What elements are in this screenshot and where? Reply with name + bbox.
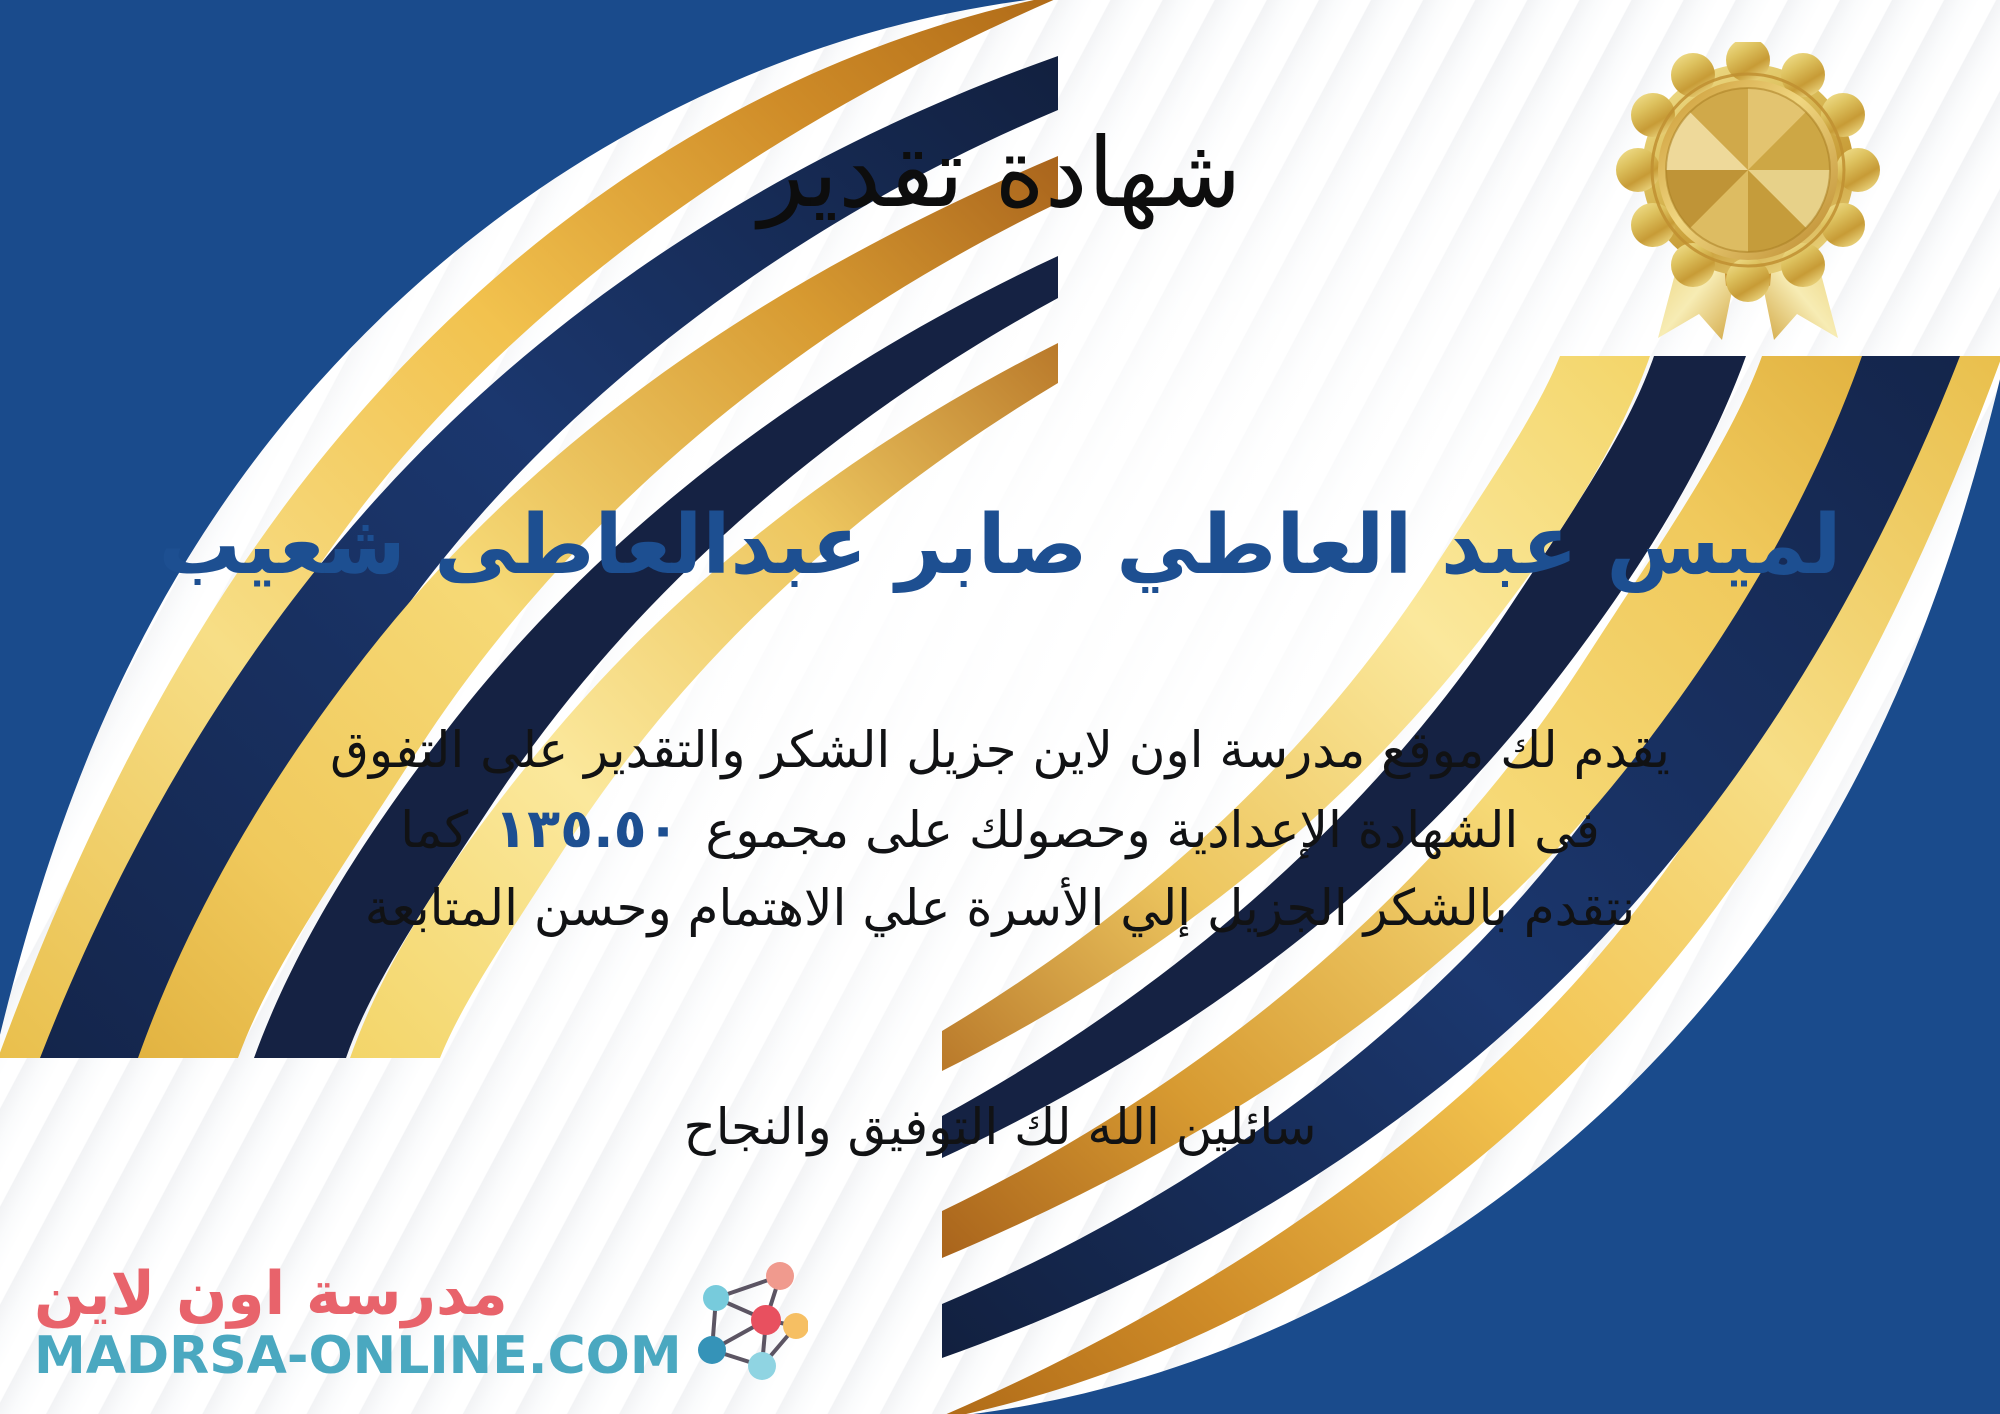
site-logo[interactable]: مدرسة اون لاين MADRSA-ONLINE.COM bbox=[34, 1258, 808, 1388]
body-line-2-suffix: كما bbox=[400, 801, 468, 859]
body-line-3: نتقدم بالشكر الجزيل إلي الأسرة علي الاهت… bbox=[120, 870, 1880, 946]
body-line-1: يقدم لك موقع مدرسة اون لاين جزيل الشكر و… bbox=[120, 712, 1880, 788]
body-text: يقدم لك موقع مدرسة اون لاين جزيل الشكر و… bbox=[120, 712, 1880, 946]
logo-text: مدرسة اون لاين MADRSA-ONLINE.COM bbox=[34, 1264, 682, 1382]
network-nodes-icon bbox=[688, 1258, 808, 1388]
recipient-name: لميس عبد العاطي صابر عبدالعاطى شعيب bbox=[60, 498, 1940, 595]
certificate-page: شهادة تقدير لميس عبد العاطي صابر عبدالعا… bbox=[0, 0, 2000, 1414]
certificate-content: شهادة تقدير لميس عبد العاطي صابر عبدالعا… bbox=[0, 0, 2000, 1414]
body-line-2: فى الشهادة الإعدادية وحصولك على مجموع١٣٥… bbox=[120, 788, 1880, 870]
logo-domain: MADRSA-ONLINE.COM bbox=[34, 1330, 682, 1382]
logo-arabic-name: مدرسة اون لاين bbox=[34, 1264, 508, 1324]
body-line-2-prefix: فى الشهادة الإعدادية وحصولك على مجموع bbox=[706, 801, 1600, 859]
closing-line: سائلين الله لك التوفيق والنجاح bbox=[0, 1090, 2000, 1165]
page-title: شهادة تقدير bbox=[0, 118, 2000, 228]
score-value: ١٣٥.٥٠ bbox=[468, 797, 705, 860]
